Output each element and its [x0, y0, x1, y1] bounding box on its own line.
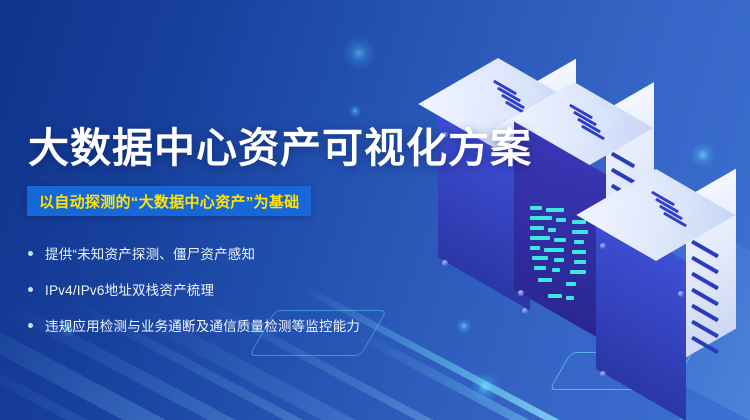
code-line — [574, 240, 584, 244]
code-line — [554, 258, 564, 262]
feature-bullet-list: 提供“未知资产探测、僵尸资产感知 IPv4/IPv6地址双栈资产梳理 违规应用检… — [28, 238, 360, 346]
code-line — [566, 296, 574, 300]
server-rack-illustration — [430, 40, 750, 420]
list-item: 提供“未知资产探测、僵尸资产感知 — [28, 238, 360, 268]
text-content: 大数据中心资产可视化方案 以自动探测的“大数据中心资产”为基础 提供“未知资产探… — [0, 0, 470, 420]
code-line — [534, 266, 546, 270]
page-title: 大数据中心资产可视化方案 — [28, 124, 532, 172]
code-line — [572, 230, 588, 234]
code-line — [532, 256, 548, 260]
code-line — [574, 260, 586, 264]
code-line — [556, 218, 566, 222]
screw — [678, 291, 684, 297]
list-item-label: IPv4/IPv6地址双栈资产梳理 — [45, 279, 214, 299]
code-line — [538, 278, 552, 282]
screw — [600, 371, 606, 377]
code-line — [566, 282, 576, 286]
subtitle-text: 以自动探测的“大数据中心资产”为基础 — [39, 191, 299, 212]
screw — [600, 243, 606, 249]
code-line — [572, 220, 586, 224]
code-line — [546, 208, 564, 212]
bullet-dot-icon — [28, 251, 33, 256]
code-line — [530, 226, 544, 230]
code-line — [530, 236, 550, 240]
code-line — [552, 268, 560, 272]
list-item-label: 违规应用检测与业务通断及通信质量检测等监控能力 — [45, 315, 360, 335]
screw — [522, 308, 528, 314]
code-line — [548, 228, 556, 232]
list-item-label: 提供“未知资产探测、僵尸资产感知 — [45, 243, 255, 263]
bullet-dot-icon — [28, 323, 33, 328]
list-item: IPv4/IPv6地址双栈资产梳理 — [28, 274, 360, 304]
code-line — [530, 206, 542, 210]
code-line — [554, 238, 566, 242]
screw — [518, 290, 524, 296]
code-line — [530, 216, 552, 220]
list-item: 违规应用检测与业务通断及通信质量检测等监控能力 — [28, 310, 360, 340]
subtitle-highlight-bar: 以自动探测的“大数据中心资产”为基础 — [27, 186, 311, 216]
banner-root: 大数据中心资产可视化方案 以自动探测的“大数据中心资产”为基础 提供“未知资产探… — [0, 0, 750, 420]
code-line — [570, 270, 586, 274]
code-line — [544, 248, 564, 252]
bullet-dot-icon — [28, 287, 33, 292]
code-line — [548, 294, 562, 298]
code-line — [572, 250, 586, 254]
code-line — [530, 246, 540, 250]
